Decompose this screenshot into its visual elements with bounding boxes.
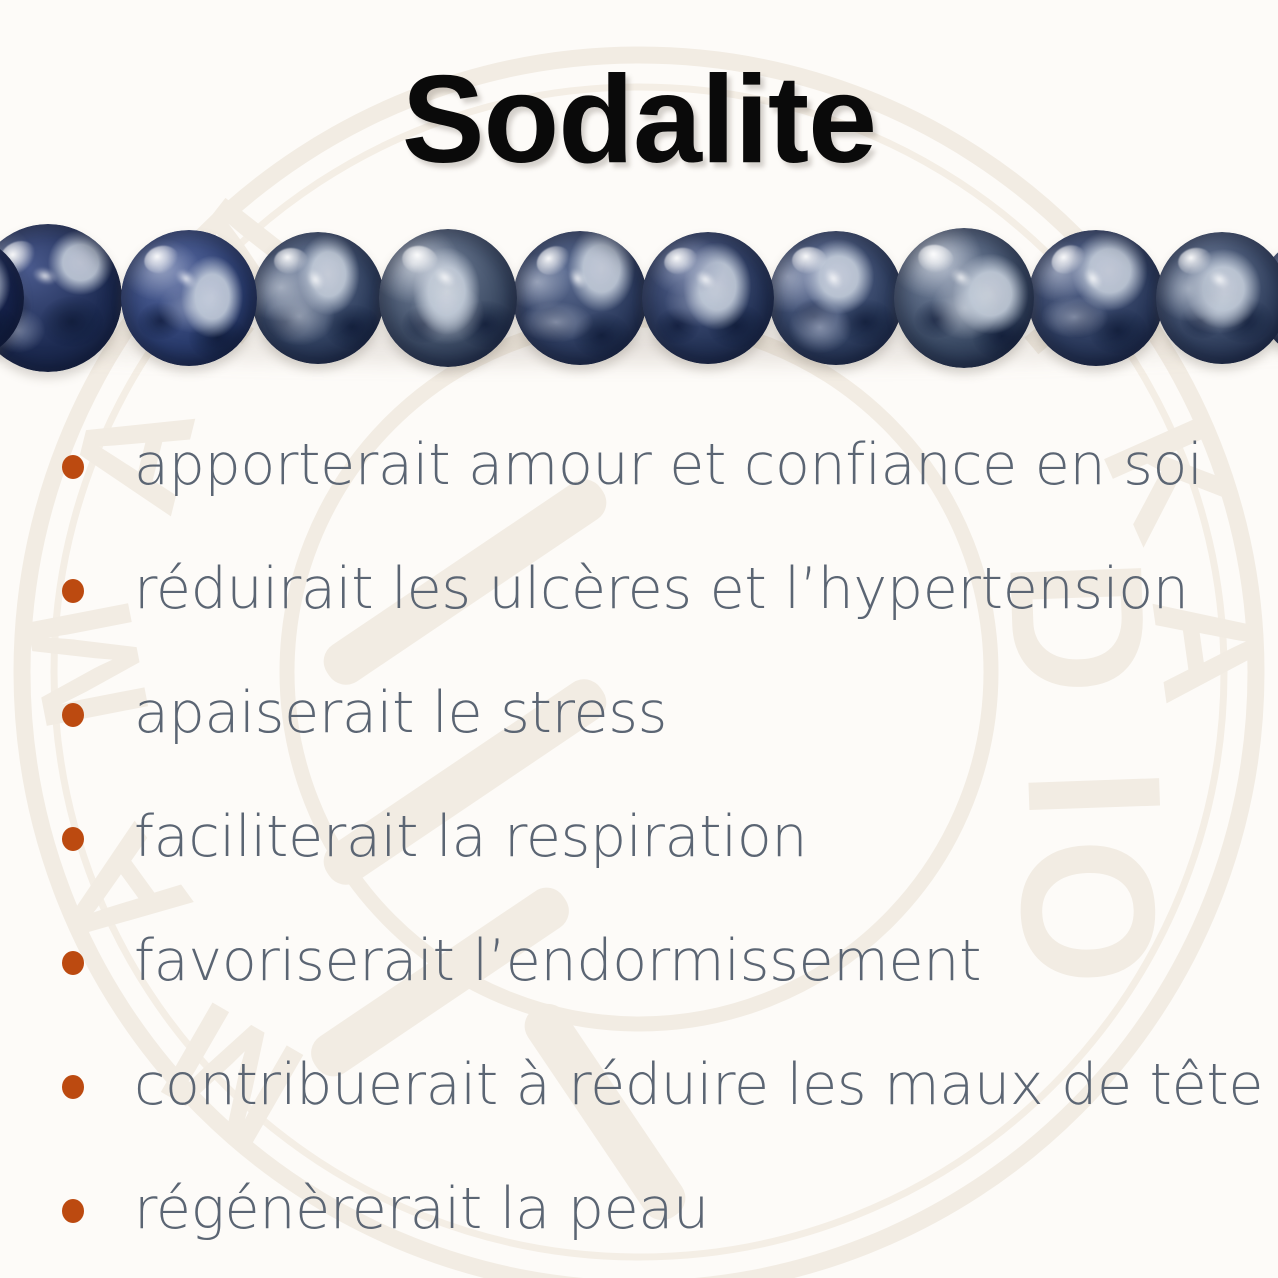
list-item-label: favoriserait l’endormissement — [134, 932, 981, 992]
bead-rim-shading — [642, 232, 774, 364]
bead — [513, 231, 647, 365]
list-item-label: contribuerait à réduire les maux de tête — [134, 1056, 1263, 1116]
list-item: apaiserait le stress — [0, 652, 1278, 776]
bead-rim-shading — [513, 231, 647, 365]
list-item-label: réduirait les ulcères et l’hypertension — [134, 560, 1189, 620]
bead-rim-shading — [894, 228, 1034, 368]
bead — [894, 228, 1034, 368]
bead — [769, 231, 903, 365]
list-item-label: faciliterait la respiration — [134, 808, 807, 868]
bead — [379, 229, 517, 367]
bead — [252, 232, 384, 364]
bullet-dot-icon — [62, 579, 84, 603]
list-item-label: régénèrerait la peau — [134, 1180, 709, 1240]
bullet-dot-icon — [62, 1075, 84, 1099]
bead-rim-shading — [379, 229, 517, 367]
list-item: réduirait les ulcères et l’hypertension — [0, 528, 1278, 652]
page-title: Sodalite — [402, 58, 876, 182]
list-item: contribuerait à réduire les maux de tête — [0, 1024, 1278, 1148]
infographic-card: M A M A M I K A D I O Sodalite — [0, 0, 1278, 1278]
list-item: apporterait amour et confiance en soi — [0, 404, 1278, 528]
bullet-dot-icon — [62, 827, 84, 851]
bullet-dot-icon — [62, 1199, 84, 1223]
bead — [1028, 230, 1164, 366]
bead-rim-shading — [121, 230, 257, 366]
bead-rim-shading — [1028, 230, 1164, 366]
bullet-dot-icon — [62, 951, 84, 975]
bead — [1156, 232, 1278, 364]
bead — [121, 230, 257, 366]
bead-specular-highlight — [792, 247, 827, 274]
list-item: favoriserait l’endormissement — [0, 900, 1278, 1024]
list-item: faciliterait la respiration — [0, 776, 1278, 900]
bead-rim-shading — [769, 231, 903, 365]
benefits-list: apporterait amour et confiance en soiréd… — [0, 404, 1278, 1272]
bead-rim-shading — [252, 232, 384, 364]
bead — [642, 232, 774, 364]
list-item-label: apaiserait le stress — [134, 684, 667, 744]
list-item: régénèrerait la peau — [0, 1148, 1278, 1272]
list-item-label: apporterait amour et confiance en soi — [134, 436, 1203, 496]
bullet-dot-icon — [62, 455, 84, 479]
bullet-dot-icon — [62, 703, 84, 727]
page-title-container: Sodalite — [0, 58, 1278, 182]
sodalite-bead-strand-image — [0, 222, 1278, 394]
bead-rim-shading — [1156, 232, 1278, 364]
